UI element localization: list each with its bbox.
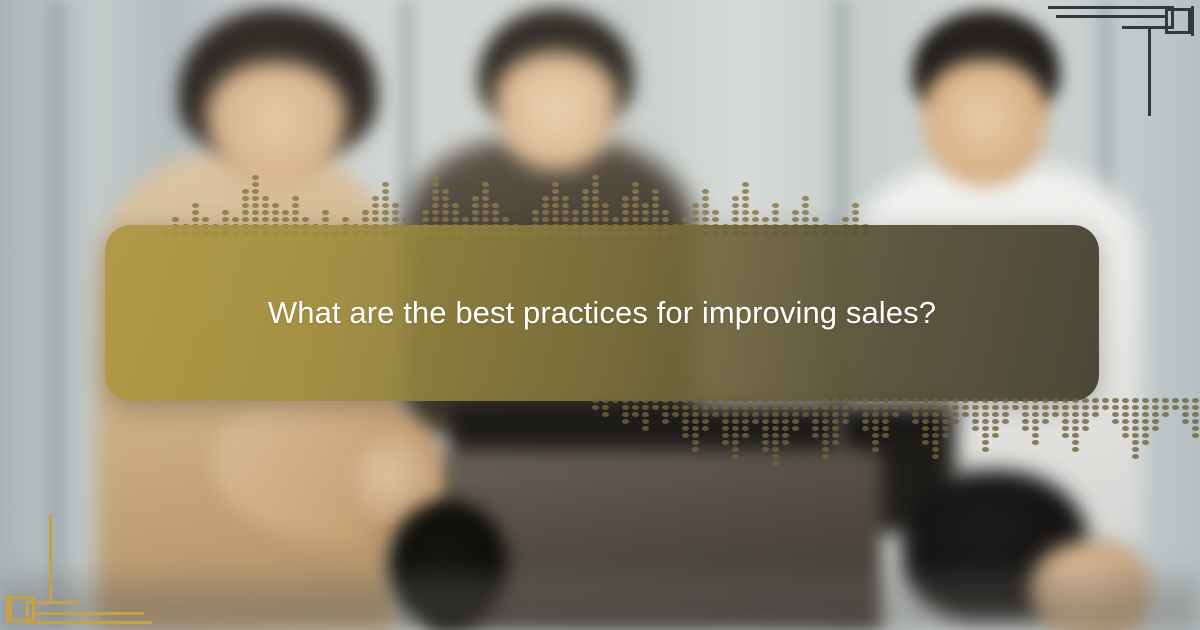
screenshot-canvas: What are the best practices for improvin… bbox=[0, 0, 1200, 630]
wall-seam bbox=[40, 0, 74, 630]
question-text: What are the best practices for improvin… bbox=[222, 289, 982, 337]
question-card: What are the best practices for improvin… bbox=[105, 225, 1099, 401]
desk-surface bbox=[0, 574, 1200, 630]
